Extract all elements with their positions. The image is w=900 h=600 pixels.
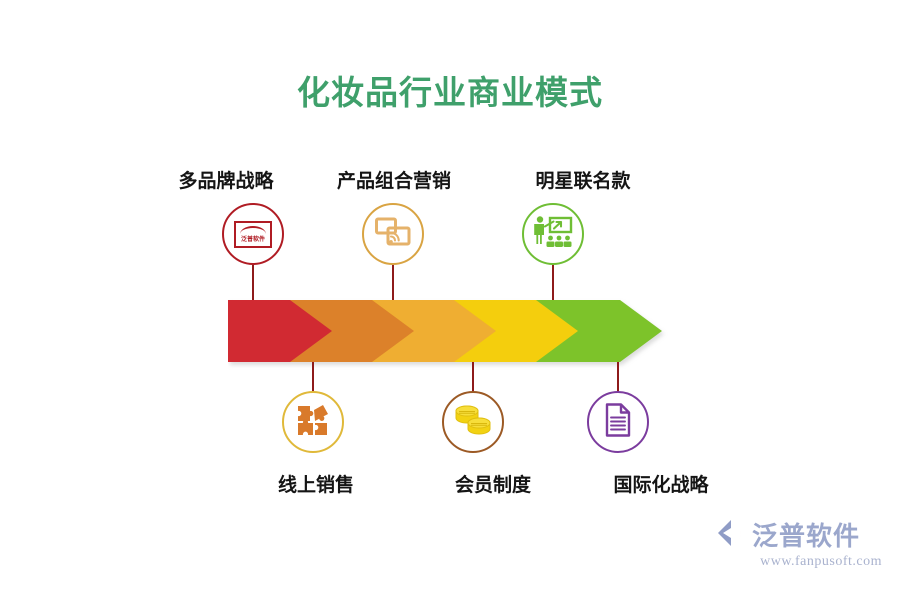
step-node-2[interactable] [282,391,344,453]
watermark-brand-row: 泛普软件 [716,518,882,553]
fanpu-logo-icon [716,518,748,553]
screen-cast-icon [375,217,411,252]
step-label-2: 线上销售 [278,470,354,497]
chevron-arrow-band [228,288,668,374]
connector-stem-5 [552,265,554,300]
training-presentation-icon [533,215,573,254]
step-label-3: 产品组合营销 [337,166,451,193]
puzzle-pieces-icon [296,403,330,442]
page-title: 化妆品行业商业模式 [0,66,900,114]
connector-stem-4 [472,362,474,392]
brand-plate-icon: 泛普软件 [234,221,272,248]
coins-stack-icon [454,404,492,441]
step-label-4: 会员制度 [455,470,531,497]
watermark: 泛普软件 www.fanpusoft.com [716,518,882,582]
watermark-brand: 泛普软件 [752,521,860,551]
step-node-5[interactable] [522,203,584,265]
document-file-icon [604,403,632,442]
plate-label: 泛普软件 [241,236,265,244]
step-node-1[interactable]: 泛普软件 [222,203,284,265]
connector-stem-2 [312,362,314,392]
connector-stem-3 [392,265,394,300]
step-label-5: 明星联名款 [535,166,630,193]
connector-stem-1 [252,265,254,300]
step-node-6[interactable] [587,391,649,453]
connector-stem-6 [617,362,619,392]
step-node-4[interactable] [442,391,504,453]
step-label-6: 国际化战略 [613,470,708,497]
diagram-canvas: 化妆品行业商业模式 多品牌战略 泛普软件 [0,0,900,600]
plate-arc [240,226,266,234]
step-node-3[interactable] [362,203,424,265]
step-label-1: 多品牌战略 [178,166,273,193]
watermark-url: www.fanpusoft.com [716,554,882,570]
